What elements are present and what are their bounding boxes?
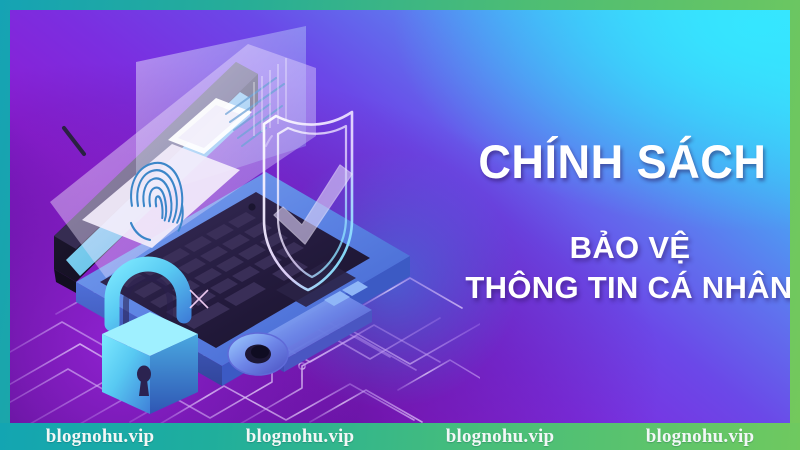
security-illustration (40, 24, 440, 424)
watermark-text: blognohu.vip (0, 426, 200, 448)
subtitle-line-1: BẢO VỆ (440, 232, 790, 263)
watermark-text: blognohu.vip (600, 426, 800, 448)
watermark-text: blognohu.vip (400, 426, 600, 448)
promo-banner: CHÍNH SÁCH BẢO VỆ THÔNG TIN CÁ NHÂN blog… (0, 0, 800, 450)
headline-block: CHÍNH SÁCH BẢO VỆ THÔNG TIN CÁ NHÂN (440, 10, 790, 424)
artwork-area: CHÍNH SÁCH BẢO VỆ THÔNG TIN CÁ NHÂN (10, 10, 790, 424)
subtitle-line-2: THÔNG TIN CÁ NHÂN (434, 272, 790, 303)
watermark-text: blognohu.vip (200, 426, 400, 448)
page-title: CHÍNH SÁCH (440, 138, 790, 185)
watermark-bar: blognohu.vip blognohu.vip blognohu.vip b… (0, 423, 800, 450)
